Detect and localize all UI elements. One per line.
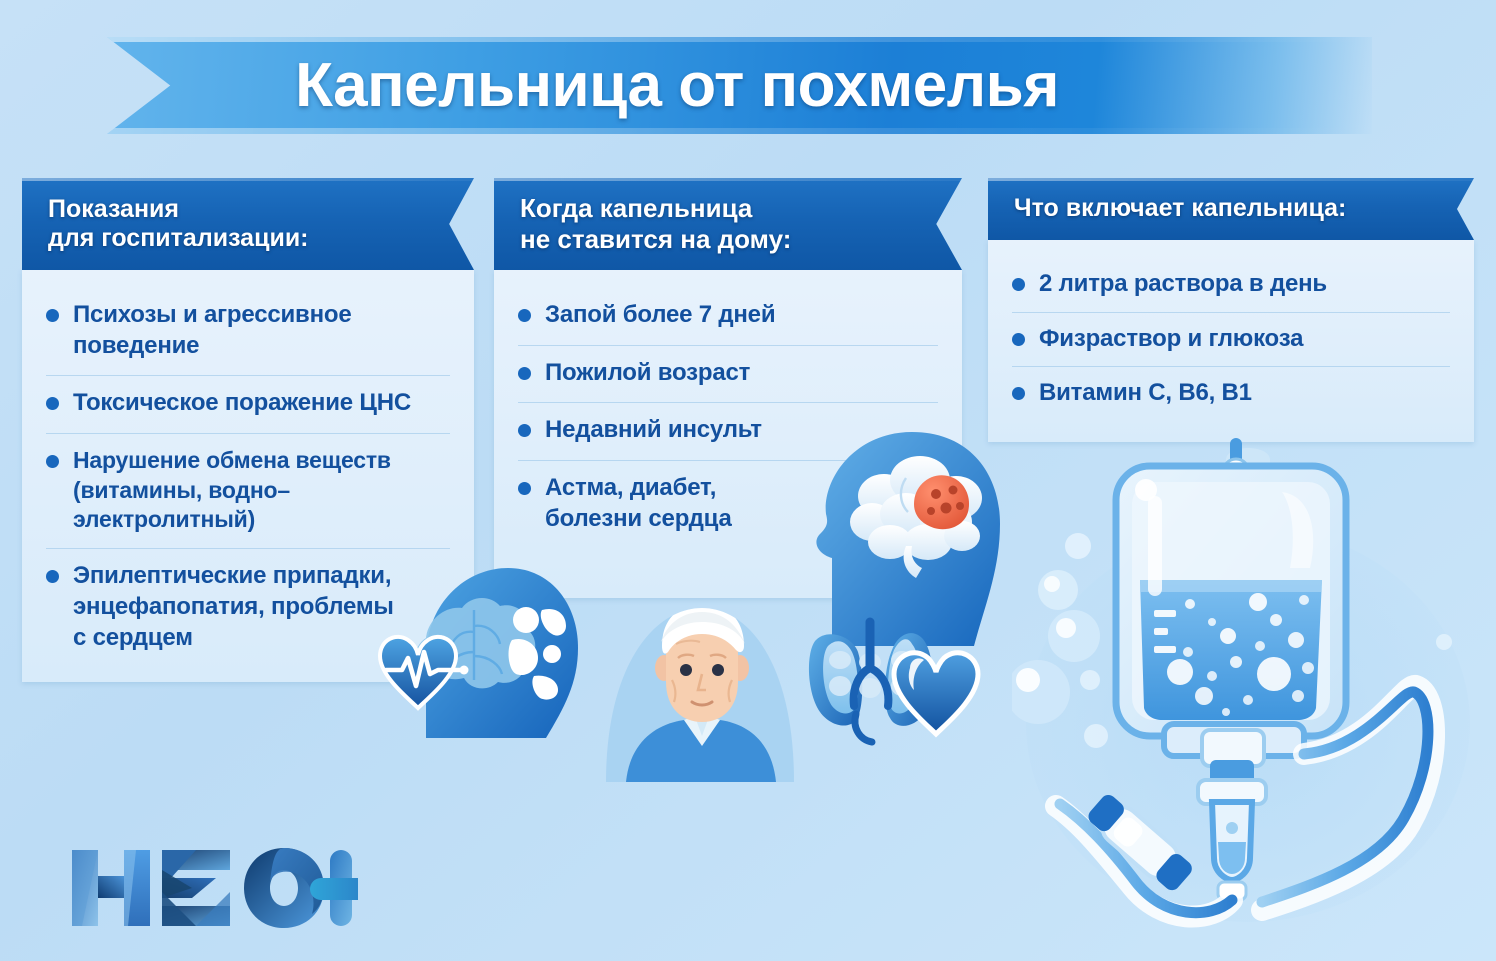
list-item-label: Недавний инсульт [545, 415, 762, 446]
column-header-label: Когда капельница не ставится на дому: [520, 193, 791, 254]
page-title: Капельница от похмелья [107, 37, 1247, 134]
bullet-dot-icon [1012, 387, 1025, 400]
list-item-label: Астма, диабет, болезни сердца [545, 473, 732, 534]
column-contraindications: Когда капельница не ставится на дому: За… [494, 178, 962, 598]
column-body-indications: Психозы и агрессивное поведение Токсичес… [22, 270, 474, 682]
list-item-label: Нарушение обмена веществ (витамины, водн… [73, 446, 450, 534]
list-item-label: Витамин С, В6, В1 [1039, 378, 1252, 409]
header-highlight [22, 178, 474, 181]
list-item: Нарушение обмена веществ (витамины, водн… [46, 434, 450, 549]
iv-drip-bag-icon [1012, 424, 1484, 954]
bullet-dot-icon [46, 397, 59, 410]
column-header-contents: Что включает капельница: [988, 178, 1474, 240]
bullet-dot-icon [1012, 333, 1025, 346]
list-item: 2 литра раствора в день [1012, 258, 1450, 313]
list-item: Токсическое поражение ЦНС [46, 376, 450, 434]
column-header-label: Показания для госпитализации: [48, 195, 309, 254]
column-header-contraindications: Когда капельница не ставится на дому: [494, 178, 962, 270]
bullet-dot-icon [518, 309, 531, 322]
brand-logo [58, 836, 358, 940]
bullet-dot-icon [46, 309, 59, 322]
list-item: Физраствор и глюкоза [1012, 313, 1450, 368]
list-item: Недавний инсульт [518, 403, 938, 461]
list-item-label: Токсическое поражение ЦНС [73, 388, 411, 419]
list-item-label: Психозы и агрессивное поведение [73, 300, 352, 361]
header-highlight [494, 178, 962, 181]
column-header-label: Что включает капельница: [1014, 194, 1346, 224]
bullet-dot-icon [518, 482, 531, 495]
list-item-label: Запой более 7 дней [545, 300, 775, 331]
list-item-label: Физраствор и глюкоза [1039, 324, 1303, 355]
column-header-indications: Показания для госпитализации: [22, 178, 474, 270]
list-item: Витамин С, В6, В1 [1012, 367, 1450, 421]
list-item: Астма, диабет, болезни сердца [518, 461, 938, 548]
list-item: Эпилептические припадки, энцефапопатия, … [46, 549, 450, 667]
list-item-label: 2 литра раствора в день [1039, 269, 1327, 300]
list-item: Пожилой возраст [518, 346, 938, 404]
bullet-dot-icon [46, 455, 59, 468]
list-item-label: Пожилой возраст [545, 358, 750, 389]
list-item-label: Эпилептические припадки, энцефапопатия, … [73, 561, 394, 653]
bullet-dot-icon [46, 570, 59, 583]
bullet-dot-icon [1012, 278, 1025, 291]
column-body-contraindications: Запой более 7 дней Пожилой возраст Недав… [494, 270, 962, 598]
column-contents: Что включает капельница: 2 литра раствор… [988, 178, 1474, 442]
bullet-dot-icon [518, 367, 531, 380]
column-body-contents: 2 литра раствора в день Физраствор и глю… [988, 240, 1474, 442]
list-item: Психозы и агрессивное поведение [46, 288, 450, 376]
lungs-heart-icon [798, 612, 988, 752]
elderly-man-icon [598, 596, 802, 782]
column-indications: Показания для госпитализации: Психозы и … [22, 178, 474, 682]
bullet-dot-icon [518, 424, 531, 437]
header-highlight [988, 178, 1474, 181]
list-item: Запой более 7 дней [518, 288, 938, 346]
